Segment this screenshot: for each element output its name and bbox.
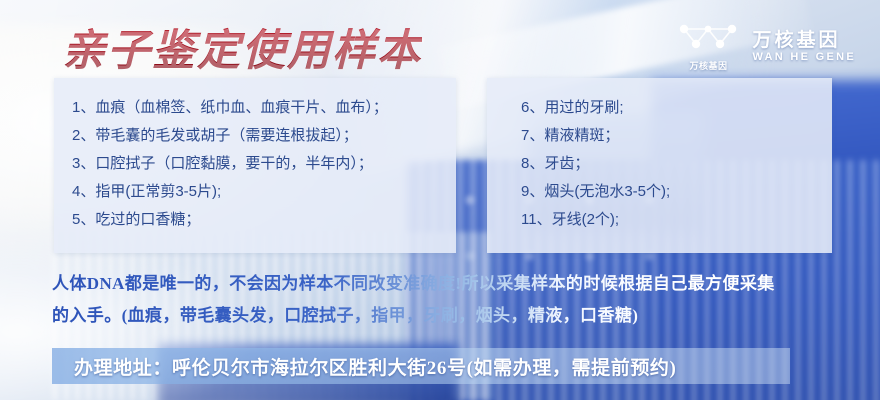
sample-list-panel-left: 1、血痕（血棉签、纸巾血、血痕干片、血布）； 2、带毛囊的毛发或胡子（需要连根拔… [54,78,456,253]
note-paragraph: 人体DNA都是唯一的，不会因为样本不同改变准确度!所以采集样本的时候根据自己最方… [52,268,852,332]
list-item: 7、精液精斑； [521,122,832,150]
list-item: 9、烟头(无泡水3-5个); [521,178,832,206]
brand-logo: 万核基因 万核基因 WAN HE GENE [678,22,856,72]
brand-name-cn: 万核基因 [752,30,840,51]
list-item: 1、血痕（血棉签、纸巾血、血痕干片、血布）； [72,94,456,122]
address-bar: 办理地址：呼伦贝尔市海拉尔区胜利大街26号(如需办理，需提前预约) [52,348,790,384]
list-item: 6、用过的牙刷; [521,94,832,122]
note-line-2: 的入手。(血痕，带毛囊头发，口腔拭子，指甲，牙刷，烟头，精液，口香糖) [52,300,852,332]
sample-list-panel-right: 6、用过的牙刷; 7、精液精斑； 8、牙齿； 9、烟头(无泡水3-5个); 11… [487,78,832,253]
note-line-1: 人体DNA都是唯一的，不会因为样本不同改变准确度!所以采集样本的时候根据自己最方… [52,268,852,300]
list-item: 3、口腔拭子（口腔黏膜，要干的，半年内）； [72,150,456,178]
address-text: 办理地址：呼伦贝尔市海拉尔区胜利大街26号(如需办理，需提前预约) [52,353,676,380]
sample-list-right: 6、用过的牙刷; 7、精液精斑； 8、牙齿； 9、烟头(无泡水3-5个); 11… [487,78,832,234]
page-title: 亲子鉴定使用样本 [62,16,422,78]
list-item: 11、牙线(2个); [521,206,832,234]
list-item: 8、牙齿； [521,150,832,178]
poster-canvas: 亲子鉴定使用样本 [0,0,880,400]
brand-names: 万核基因 WAN HE GENE [752,30,856,64]
logo-caption: 万核基因 [689,59,727,72]
list-item: 4、指甲(正常剪3-5片); [72,178,456,206]
sample-list-left: 1、血痕（血棉签、纸巾血、血痕干片、血布）； 2、带毛囊的毛发或胡子（需要连根拔… [54,78,456,234]
logo-mark: 万核基因 [678,22,738,72]
molecule-network-icon [678,22,738,57]
list-item: 5、吃过的口香糖； [72,206,456,234]
list-item: 2、带毛囊的毛发或胡子（需要连根拔起）； [72,122,456,150]
brand-name-en: WAN HE GENE [752,51,856,63]
